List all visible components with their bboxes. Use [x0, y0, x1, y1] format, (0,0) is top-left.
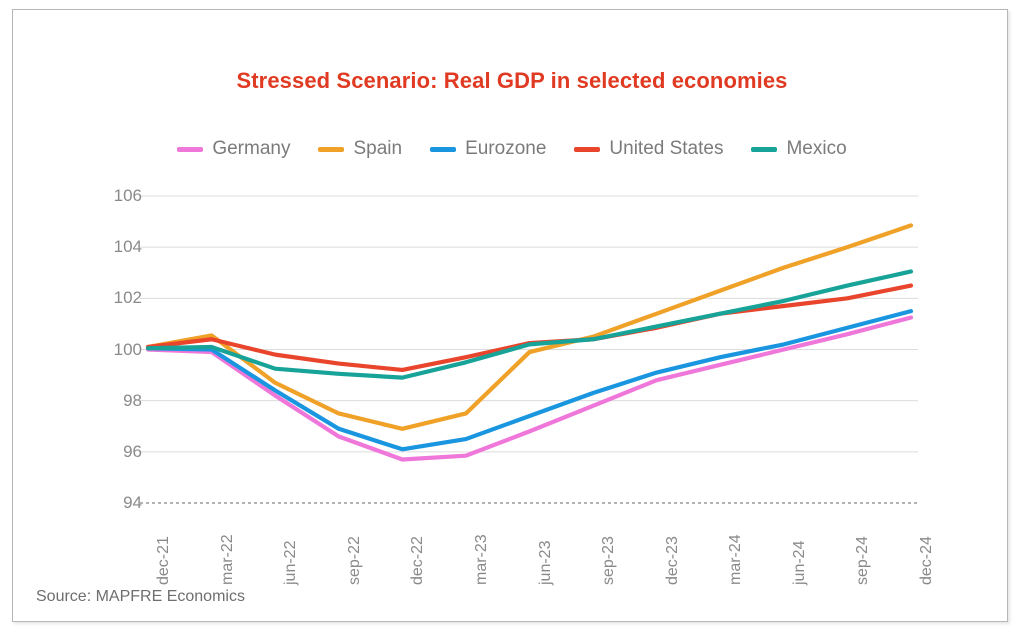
- x-tick-label: sep-22: [346, 536, 364, 585]
- x-axis-ticks: dec-21mar-22jun-22sep-22dec-22mar-23jun-…: [0, 0, 1024, 639]
- x-tick-label: sep-24: [854, 536, 872, 585]
- chart-page: Stressed Scenario: Real GDP in selected …: [0, 0, 1024, 639]
- source-note: Source: MAPFRE Economics: [36, 588, 245, 606]
- x-tick-label: dec-21: [155, 536, 173, 585]
- x-tick-label: dec-24: [918, 536, 936, 585]
- x-tick-label: dec-22: [409, 536, 427, 585]
- x-tick-label: jun-23: [537, 541, 555, 585]
- x-tick-label: dec-23: [664, 536, 682, 585]
- x-tick-label: jun-24: [791, 541, 809, 585]
- x-tick-label: jun-22: [282, 541, 300, 585]
- x-tick-label: mar-24: [727, 534, 745, 585]
- x-tick-label: sep-23: [600, 536, 618, 585]
- x-tick-label: mar-23: [473, 534, 491, 585]
- x-tick-label: mar-22: [219, 534, 237, 585]
